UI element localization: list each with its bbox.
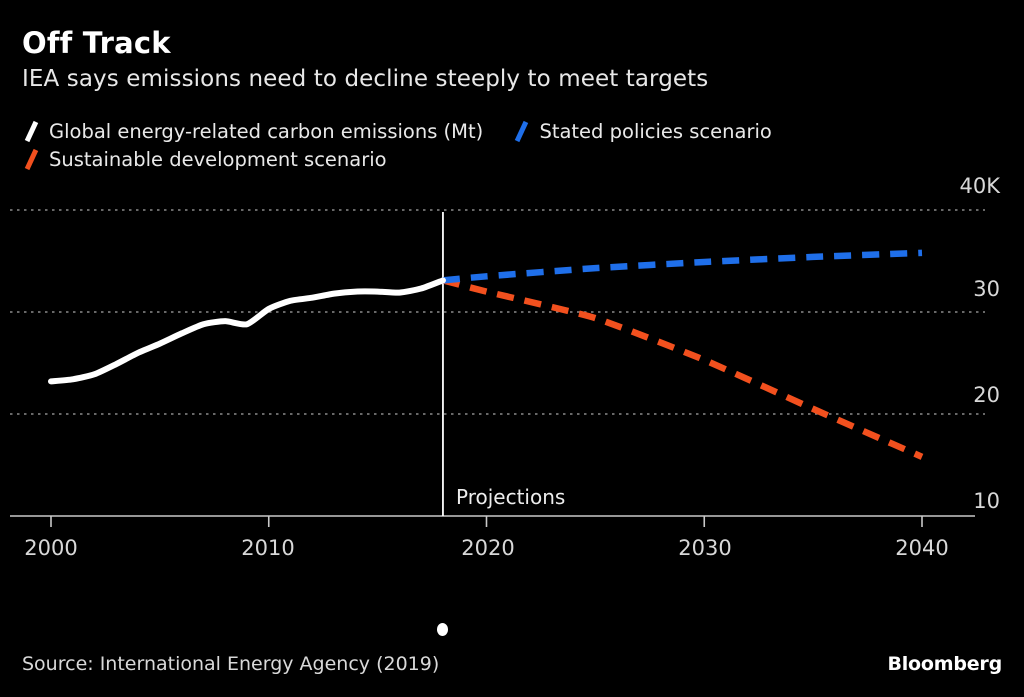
x-tick-label: 2000	[0, 536, 111, 560]
y-tick-label: 20	[930, 383, 1000, 407]
bullet-dot-icon	[437, 623, 448, 636]
x-tick-label: 2010	[208, 536, 328, 560]
chart-gridlines	[10, 210, 985, 414]
x-tick-label: 2040	[862, 536, 982, 560]
y-tick-label: 40K	[930, 174, 1000, 198]
chart-page: Off Track IEA says emissions need to dec…	[0, 0, 1024, 697]
chart-plot-area	[0, 0, 1024, 697]
projections-annotation: Projections	[456, 485, 565, 509]
series-line-historical-emissions	[51, 280, 443, 381]
x-tick-label: 2020	[428, 536, 548, 560]
chart-x-tick-marks	[51, 516, 922, 527]
x-tick-label: 2030	[645, 536, 765, 560]
y-tick-label: 30	[930, 277, 1000, 301]
y-tick-label: 10	[930, 489, 1000, 513]
series-line-stated-policies	[443, 253, 922, 281]
brand-logo: Bloomberg	[887, 653, 1002, 675]
source-note: Source: International Energy Agency (201…	[22, 653, 439, 675]
series-line-sustainable-development	[443, 280, 922, 456]
